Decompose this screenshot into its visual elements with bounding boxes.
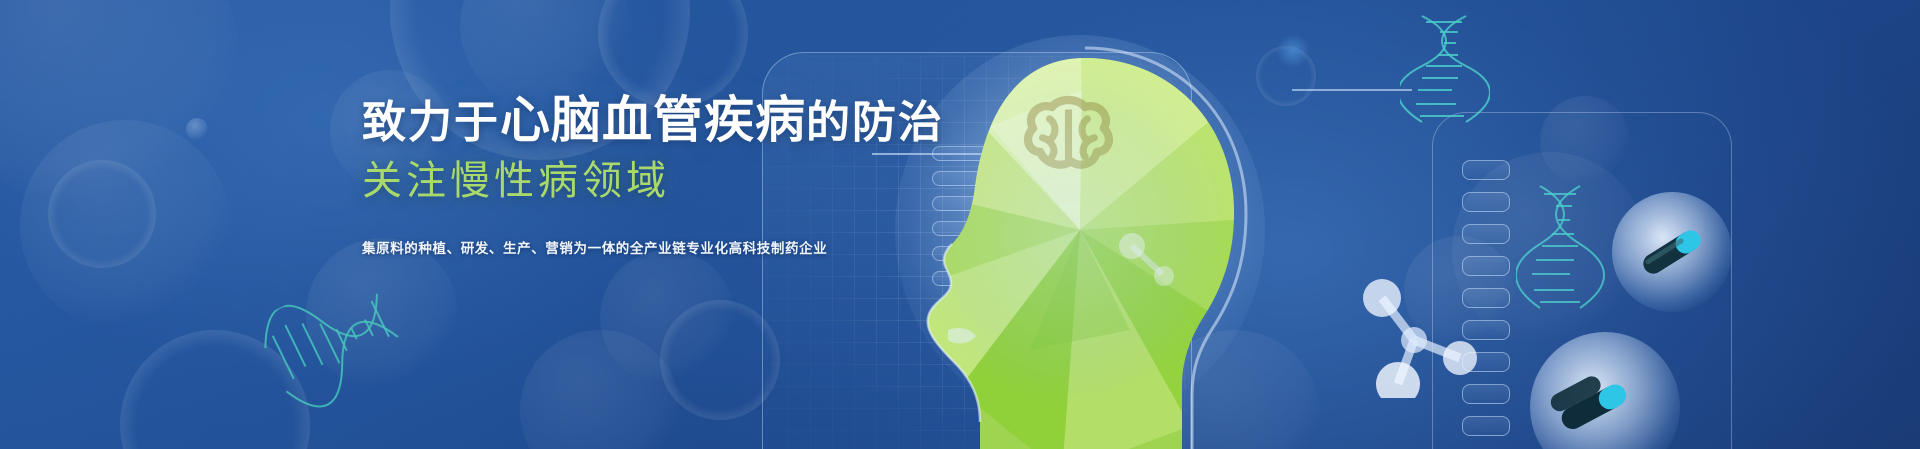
bacterium-shape [1612,192,1732,312]
cell-blob-icon [1276,34,1310,68]
dna-helix-icon [1400,10,1490,130]
bokeh-circle [600,250,735,385]
bokeh-circle [1020,110,1150,240]
hud-bar [1462,160,1510,180]
hud-bar [1462,192,1510,212]
hud-bar [932,271,1004,286]
banner-copy: 致力于心脑血管疾病的防治 关注慢性病领域 集原料的种植、研发、生产、营销为一体的… [362,92,1002,260]
brain-icon [1028,100,1109,165]
hud-bar [1462,224,1510,244]
molecule-icon [1112,224,1202,304]
molecule-icon [1352,268,1492,398]
hud-bar [1462,320,1510,340]
bokeh-circle [186,118,208,140]
headline-tail: 的防治 [806,98,944,147]
hud-panel-right-frame [1432,112,1732,449]
headline: 致力于心脑血管疾病的防治 [362,92,1002,148]
headline-lead: 致力于 [362,98,500,147]
bokeh-circle [20,120,230,330]
hud-bar [1462,416,1510,436]
bokeh-circle [0,0,240,210]
dna-helix-icon [1516,182,1606,312]
cell-bacterium-icon [1530,332,1680,449]
headline-accent: 心脑血管疾病 [500,92,806,148]
bokeh-circle [1150,330,1320,449]
bokeh-circle [1256,46,1316,106]
cell-bacterium-icon [1612,192,1732,312]
hud-bar [1462,288,1510,308]
bokeh-circle [1540,96,1630,186]
dna-helix-icon [250,265,415,421]
hud-bar [1462,384,1510,404]
bokeh-circle [1404,236,1514,346]
bokeh-circle [48,160,156,268]
bokeh-circle [1452,152,1647,347]
hud-bar [1462,352,1510,372]
bokeh-circle [520,330,680,449]
bokeh-circle [660,300,780,420]
bacterium-shape [1530,332,1680,449]
banner-caption: 集原料的种植、研发、生产、营销为一体的全产业链专业化高科技制药企业 [362,238,1002,260]
hero-banner: 致力于心脑血管疾病的防治 关注慢性病领域 集原料的种植、研发、生产、营销为一体的… [0,0,1920,449]
hud-bar-group-right [1462,160,1510,436]
hud-tick-line [1292,89,1412,91]
subheadline: 关注慢性病领域 [362,158,1002,204]
hud-bar [1462,256,1510,276]
bokeh-circle [306,238,458,390]
bokeh-circle [120,330,310,449]
